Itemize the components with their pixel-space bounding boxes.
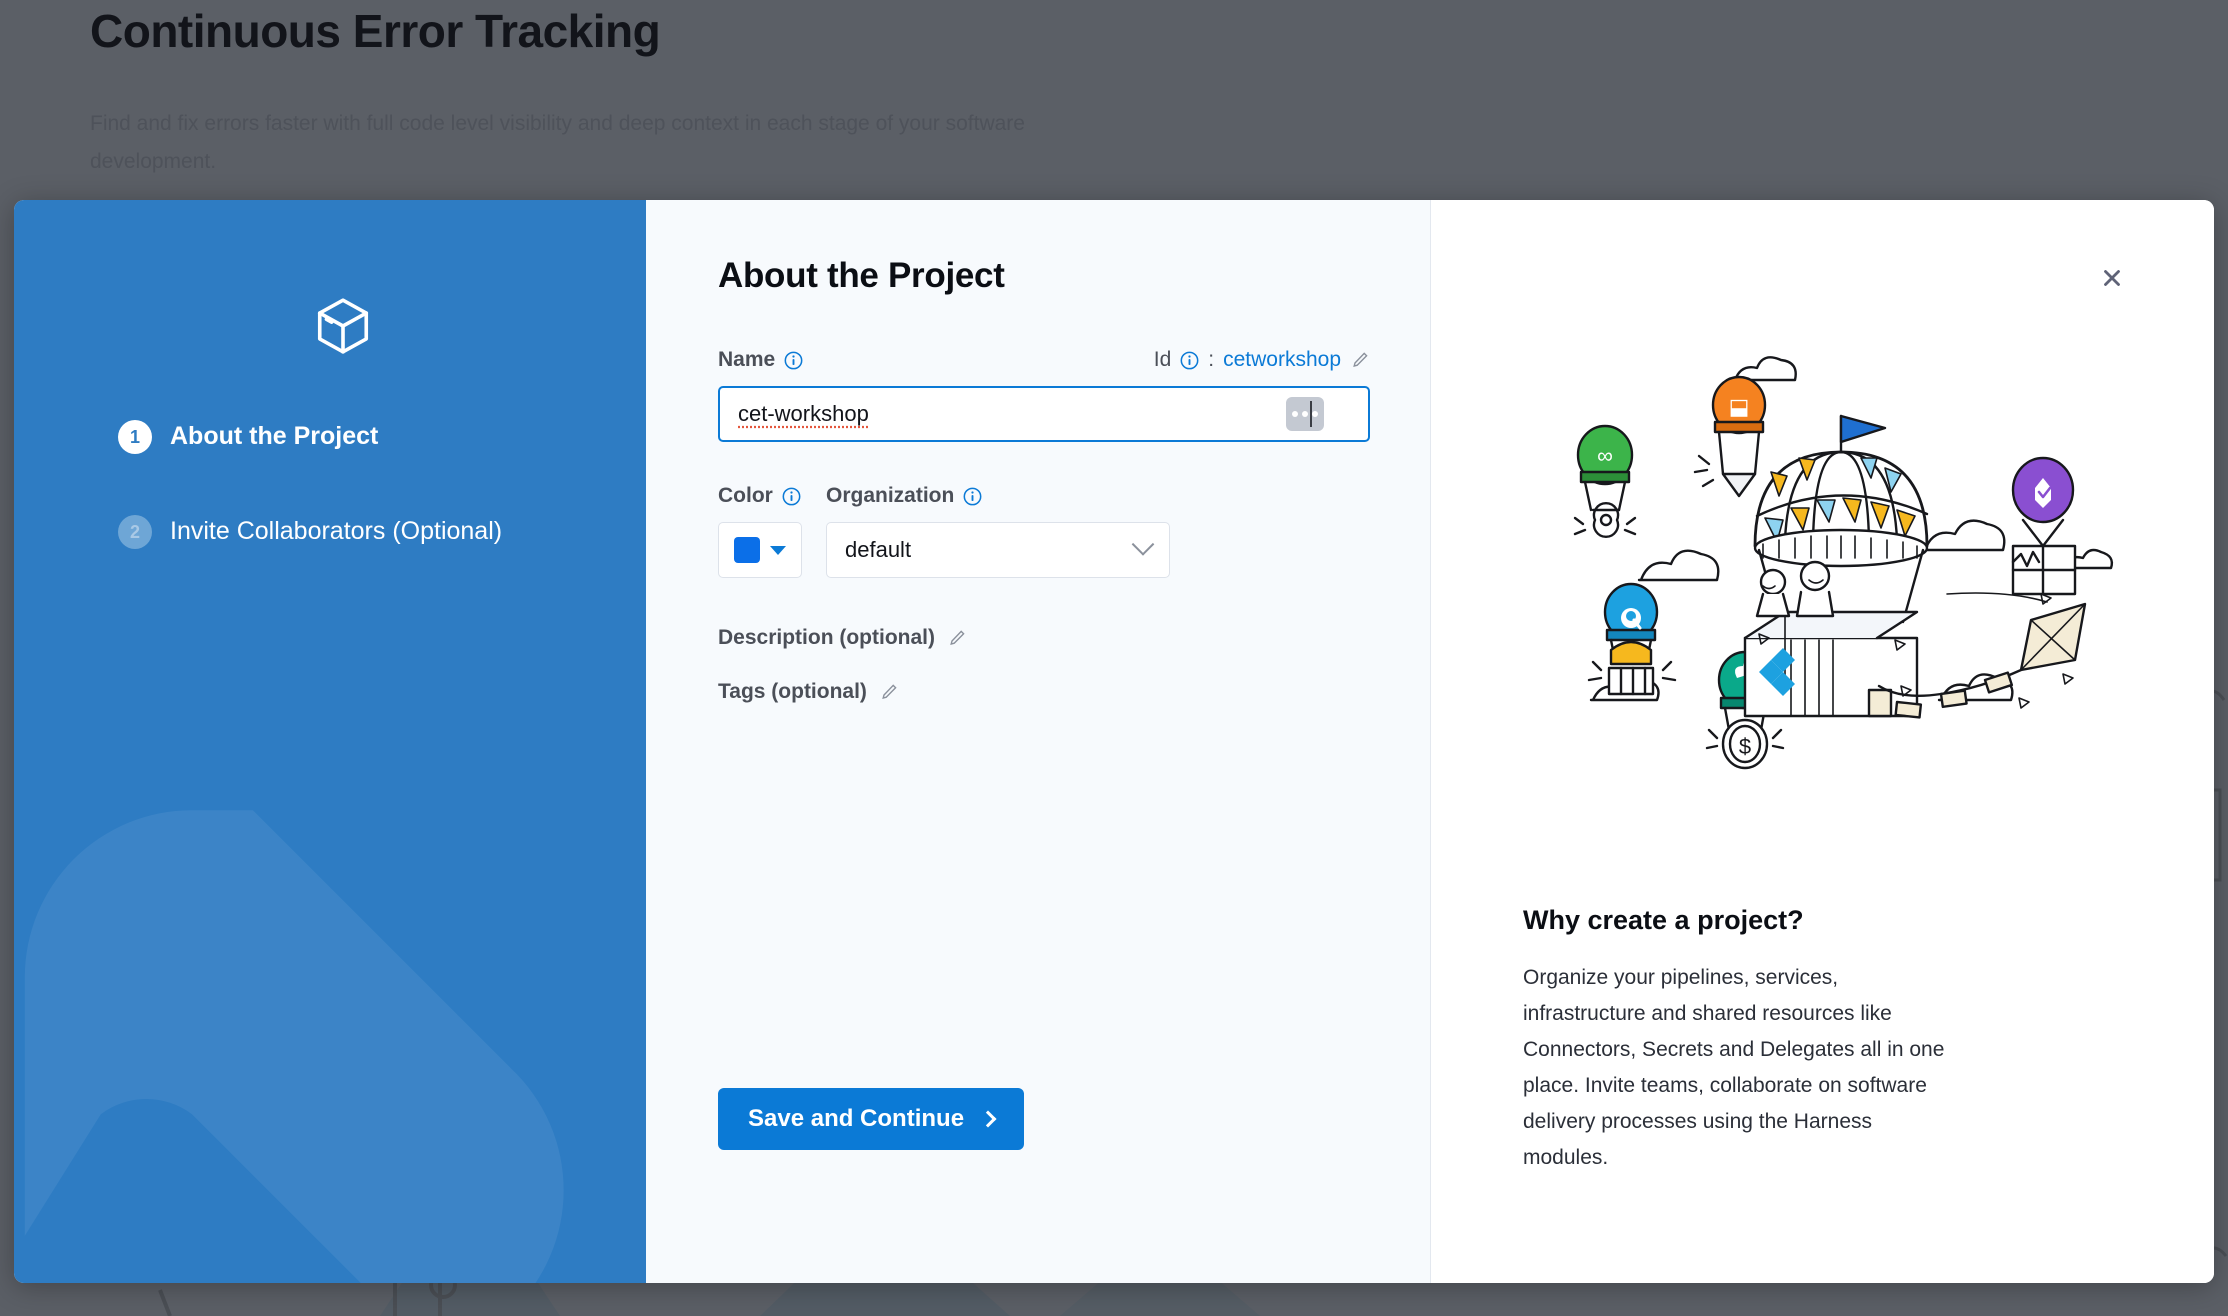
info-pane: ∞ ⬓ — [1431, 200, 2214, 1283]
hot-air-balloons-illustration: ∞ ⬓ — [1523, 350, 2143, 770]
step-badge-1: 1 — [118, 420, 152, 454]
color-organization-row: Color Organization — [718, 484, 1370, 578]
why-create-project-body: Organize your pipelines, services, infra… — [1523, 960, 1953, 1176]
info-icon[interactable] — [784, 351, 803, 370]
name-id-label-row: Name Id : cetworkshop — [718, 348, 1370, 372]
color-label-group: Color — [718, 484, 801, 508]
organization-field-group: Organization default — [826, 484, 1170, 578]
svg-text:⬓: ⬓ — [1729, 394, 1750, 419]
info-icon[interactable] — [963, 487, 982, 506]
caret-down-icon — [770, 546, 786, 555]
tags-row[interactable]: Tags (optional) — [718, 680, 1370, 704]
chevron-down-icon — [1132, 533, 1155, 556]
page-hero: Continuous Error Tracking Find and fix e… — [0, 0, 2228, 200]
id-value: cetworkshop — [1223, 348, 1341, 372]
info-icon[interactable] — [1180, 351, 1199, 370]
project-form-pane: About the Project Name Id : cetworksho — [646, 200, 1431, 1283]
page-title: Continuous Error Tracking — [90, 4, 660, 58]
why-create-project-heading: Why create a project? — [1523, 905, 1804, 936]
pencil-icon[interactable] — [879, 682, 899, 702]
chevron-right-icon — [980, 1111, 997, 1128]
info-icon[interactable] — [782, 487, 801, 506]
sidebar-step-invite-collaborators[interactable]: 2 Invite Collaborators (Optional) — [118, 513, 598, 550]
project-name-value: cet-workshop — [738, 401, 1286, 427]
sidebar-step-about-the-project[interactable]: 1 About the Project — [118, 418, 598, 455]
save-and-continue-button[interactable]: Save and Continue — [718, 1088, 1024, 1150]
cube-icon — [312, 295, 374, 357]
organization-label-group: Organization — [826, 484, 982, 508]
project-name-input[interactable]: cet-workshop — [718, 386, 1370, 442]
svg-text:$: $ — [1739, 734, 1751, 759]
pencil-icon[interactable] — [947, 628, 967, 648]
color-field-group: Color — [718, 484, 802, 578]
organization-label: Organization — [826, 484, 954, 508]
ellipsis-icon[interactable] — [1286, 397, 1324, 431]
step-label-2: Invite Collaborators (Optional) — [170, 513, 502, 550]
description-row[interactable]: Description (optional) — [718, 626, 1370, 650]
modal-sidebar: 1 About the Project 2 Invite Collaborato… — [14, 200, 646, 1283]
form-heading: About the Project — [718, 256, 1370, 296]
save-button-label: Save and Continue — [748, 1105, 964, 1133]
text-caret — [1310, 401, 1312, 427]
description-label: Description (optional) — [718, 626, 935, 650]
tags-label: Tags (optional) — [718, 680, 867, 704]
id-separator: : — [1208, 348, 1214, 372]
color-swatch — [734, 537, 760, 563]
id-label: Id — [1154, 348, 1172, 372]
step-label-1: About the Project — [170, 418, 378, 455]
organization-value: default — [845, 537, 911, 563]
pencil-icon[interactable] — [1350, 350, 1370, 370]
color-picker-button[interactable] — [718, 522, 802, 578]
close-icon — [2099, 265, 2125, 291]
page-subtitle: Find and fix errors faster with full cod… — [90, 105, 1150, 181]
harness-logo-watermark-icon — [14, 643, 646, 1283]
create-project-modal: 1 About the Project 2 Invite Collaborato… — [14, 200, 2214, 1283]
name-label-group: Name — [718, 348, 803, 372]
project-id-row: Id : cetworkshop — [1154, 348, 1370, 372]
organization-select[interactable]: default — [826, 522, 1170, 578]
svg-text:∞: ∞ — [1597, 443, 1613, 468]
description-label-group: Description (optional) — [718, 626, 967, 650]
tags-label-group: Tags (optional) — [718, 680, 899, 704]
close-button[interactable] — [2092, 258, 2132, 298]
color-label: Color — [718, 484, 773, 508]
step-badge-2: 2 — [118, 515, 152, 549]
step-list: 1 About the Project 2 Invite Collaborato… — [118, 418, 598, 608]
name-label: Name — [718, 348, 775, 372]
